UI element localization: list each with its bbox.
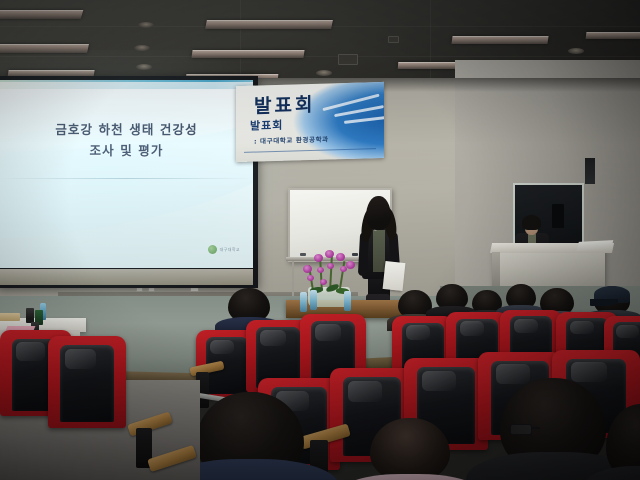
lectern-papers xyxy=(577,240,614,251)
event-banner: 발표회 발표회 : 대구대학교 환경공학과 xyxy=(236,82,384,162)
ceiling-light-fixture xyxy=(586,32,640,39)
orchid-bloom xyxy=(336,253,345,261)
orchid-bloom xyxy=(307,275,314,281)
presenter-speaking xyxy=(358,196,402,306)
orchid-bloom xyxy=(303,265,312,273)
doorway-dark-object xyxy=(552,204,564,228)
snack-tray xyxy=(0,313,20,321)
slide-title-line-1: 금호강 하천 생태 건강성 xyxy=(0,120,253,141)
audience-head xyxy=(228,288,270,322)
ceiling-speaker xyxy=(136,64,152,70)
wall-sign xyxy=(585,158,595,184)
auditorium-photo: 금호강 하천 생태 건강성 조사 및 평가 대구대학교 발표회 발표회 : 대구… xyxy=(0,0,640,480)
podium-person-hair xyxy=(522,215,541,230)
water-bottle xyxy=(310,290,317,310)
ceiling-speaker xyxy=(316,70,332,76)
banner-heading: 발표회 xyxy=(254,90,315,119)
audience-head xyxy=(436,284,468,310)
ceiling-speaker xyxy=(138,22,154,28)
auditorium-seat xyxy=(48,336,126,428)
ceiling-speaker xyxy=(568,48,584,54)
slide-university-logo: 대구대학교 xyxy=(208,245,240,254)
audience-head-foreground xyxy=(606,404,640,480)
audience-head-foreground-glasses xyxy=(500,378,606,470)
orchid-bloom xyxy=(325,250,334,258)
slide-divider xyxy=(0,178,253,179)
banner-subheading: 발표회 xyxy=(250,117,283,134)
orchid-bloom xyxy=(314,254,323,262)
banner-organization: : 대구대학교 환경공학과 xyxy=(254,133,329,145)
orchid-bloom xyxy=(317,267,324,273)
beverage-can xyxy=(26,308,34,323)
audience-head-with-cap xyxy=(594,286,630,314)
presenter-inner-top xyxy=(373,230,385,272)
presenter-hair xyxy=(366,196,391,230)
ceiling-light-fixture xyxy=(205,20,333,29)
ceiling-light-fixture xyxy=(451,36,548,44)
slide-logo-label: 대구대학교 xyxy=(220,247,240,253)
ceiling-light-fixture xyxy=(191,50,304,58)
ceiling-vent xyxy=(338,54,358,65)
projected-slide: 금호강 하천 생태 건강성 조사 및 평가 대구대학교 xyxy=(0,80,253,268)
presenter-papers xyxy=(383,261,406,291)
slide-title: 금호강 하천 생태 건강성 조사 및 평가 xyxy=(0,120,253,161)
ceiling-light-fixture xyxy=(0,44,89,53)
leaf-icon xyxy=(208,245,217,254)
projection-screen: 금호강 하천 생태 건강성 조사 및 평가 대구대학교 xyxy=(0,76,258,288)
audience-head xyxy=(506,284,536,309)
orchid-bloom xyxy=(327,263,334,269)
screen-bottom-bar xyxy=(0,269,253,285)
orchid-bloom xyxy=(320,279,327,285)
audience-head-foreground xyxy=(196,392,304,480)
eyeglasses-icon xyxy=(510,424,532,435)
ceiling-vent xyxy=(388,36,399,43)
ceiling-speaker xyxy=(134,45,150,51)
slide-title-line-2: 조사 및 평가 xyxy=(0,141,253,162)
water-bottle xyxy=(300,292,307,312)
orchid-bloom xyxy=(346,261,355,269)
water-bottle xyxy=(344,291,351,311)
audience-head-foreground xyxy=(370,418,450,480)
ceiling-light-fixture xyxy=(0,10,83,19)
